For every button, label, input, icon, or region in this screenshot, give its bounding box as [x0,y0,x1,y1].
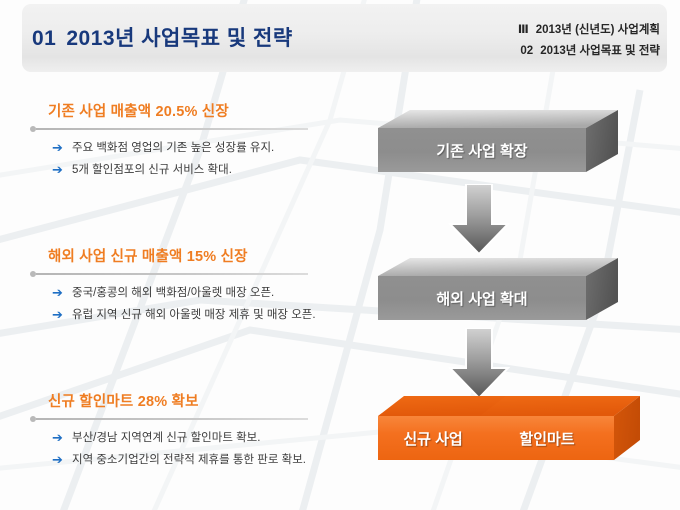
breadcrumb-line-2-number: 02 [520,45,533,57]
slide-canvas: 012013년 사업목표 및 전략 Ⅲ2013년 (신년도) 사업계획 0220… [0,0,680,510]
page-title-number: 01 [32,27,56,50]
diagram-node-existing-business[interactable]: 기존 사업 확장 [378,110,618,182]
breadcrumb-line-2-text: 2013년 사업목표 및 전략 [540,45,660,57]
breadcrumb: Ⅲ2013년 (신년도) 사업계획 022013년 사업목표 및 전략 [518,20,660,62]
rule-line [36,418,308,420]
page-title-text: 2013년 사업목표 및 전략 [66,27,292,50]
block-2-rule [30,269,380,281]
diagram-arrow-1 [448,184,510,256]
block-3-heading: 신규 할인마트 28% 확보 [48,390,380,411]
diagram-arrow-2 [448,328,510,400]
breadcrumb-line-1-number: Ⅲ [518,24,529,36]
list-item-text: 지역 중소기업간의 전략적 제휴를 통한 판로 확보. [72,452,306,468]
content-block-2: 해외 사업 신규 매출액 15% 신장 ➔ 중국/홍콩의 해외 백화점/아울렛 … [30,245,380,329]
rule-line [36,273,308,275]
list-item: ➔ 부산/경남 지역연계 신규 할인마트 확보. [52,430,380,446]
breadcrumb-line-1: Ⅲ2013년 (신년도) 사업계획 [518,20,660,41]
content-block-1: 기존 사업 매출액 20.5% 신장 ➔ 주요 백화점 영업의 기존 높은 성장… [30,100,380,184]
node-2-shape [378,258,618,330]
block-3-bullet-list: ➔ 부산/경남 지역연계 신규 할인마트 확보. ➔ 지역 중소기업간의 전략적… [52,430,380,468]
list-item-text: 주요 백화점 영업의 기존 높은 성장률 유지. [72,140,274,156]
block-1-heading: 기존 사업 매출액 20.5% 신장 [48,100,380,121]
node-1-shape [378,110,618,182]
arrow-down-icon [448,328,510,400]
page-title: 012013년 사업목표 및 전략 [32,22,293,52]
breadcrumb-line-1-text: 2013년 (신년도) 사업계획 [536,24,660,36]
list-item: ➔ 유럽 지역 신규 해외 아울렛 매장 제휴 및 매장 오픈. [52,307,380,323]
list-item: ➔ 중국/홍콩의 해외 백화점/아울렛 매장 오픈. [52,285,380,301]
arrow-down-icon [448,184,510,256]
process-diagram: 기존 사업 확장 해외 사업 확대 [370,110,670,490]
block-1-rule [30,124,380,136]
list-item-text: 5개 할인점포의 신규 서비스 확대. [72,162,232,178]
arrow-right-icon: ➔ [52,430,72,446]
arrow-right-icon: ➔ [52,140,72,156]
arrow-right-icon: ➔ [52,307,72,323]
list-item-text: 유럽 지역 신규 해외 아울렛 매장 제휴 및 매장 오픈. [72,307,316,323]
content-block-3: 신규 할인마트 28% 확보 ➔ 부산/경남 지역연계 신규 할인마트 확보. … [30,390,380,474]
block-1-bullet-list: ➔ 주요 백화점 영업의 기존 높은 성장률 유지. ➔ 5개 할인점포의 신규… [52,140,380,178]
block-2-heading: 해외 사업 신규 매출액 15% 신장 [48,245,380,266]
diagram-node-overseas-business[interactable]: 해외 사업 확대 [378,258,618,330]
list-item: ➔ 5개 할인점포의 신규 서비스 확대. [52,162,380,178]
arrow-right-icon: ➔ [52,285,72,301]
arrow-right-icon: ➔ [52,162,72,178]
rule-line [36,128,308,130]
list-item: ➔ 주요 백화점 영업의 기존 높은 성장률 유지. [52,140,380,156]
diagram-node-discount-mart[interactable]: 할인마트 [480,396,640,464]
list-item-text: 중국/홍콩의 해외 백화점/아울렛 매장 오픈. [72,285,274,301]
block-3-rule [30,414,380,426]
list-item-text: 부산/경남 지역연계 신규 할인마트 확보. [72,430,260,446]
breadcrumb-line-2: 022013년 사업목표 및 전략 [518,41,660,62]
node-4-shape [480,396,640,464]
list-item: ➔ 지역 중소기업간의 전략적 제휴를 통한 판로 확보. [52,452,380,468]
block-2-bullet-list: ➔ 중국/홍콩의 해외 백화점/아울렛 매장 오픈. ➔ 유럽 지역 신규 해외… [52,285,380,323]
arrow-right-icon: ➔ [52,452,72,468]
